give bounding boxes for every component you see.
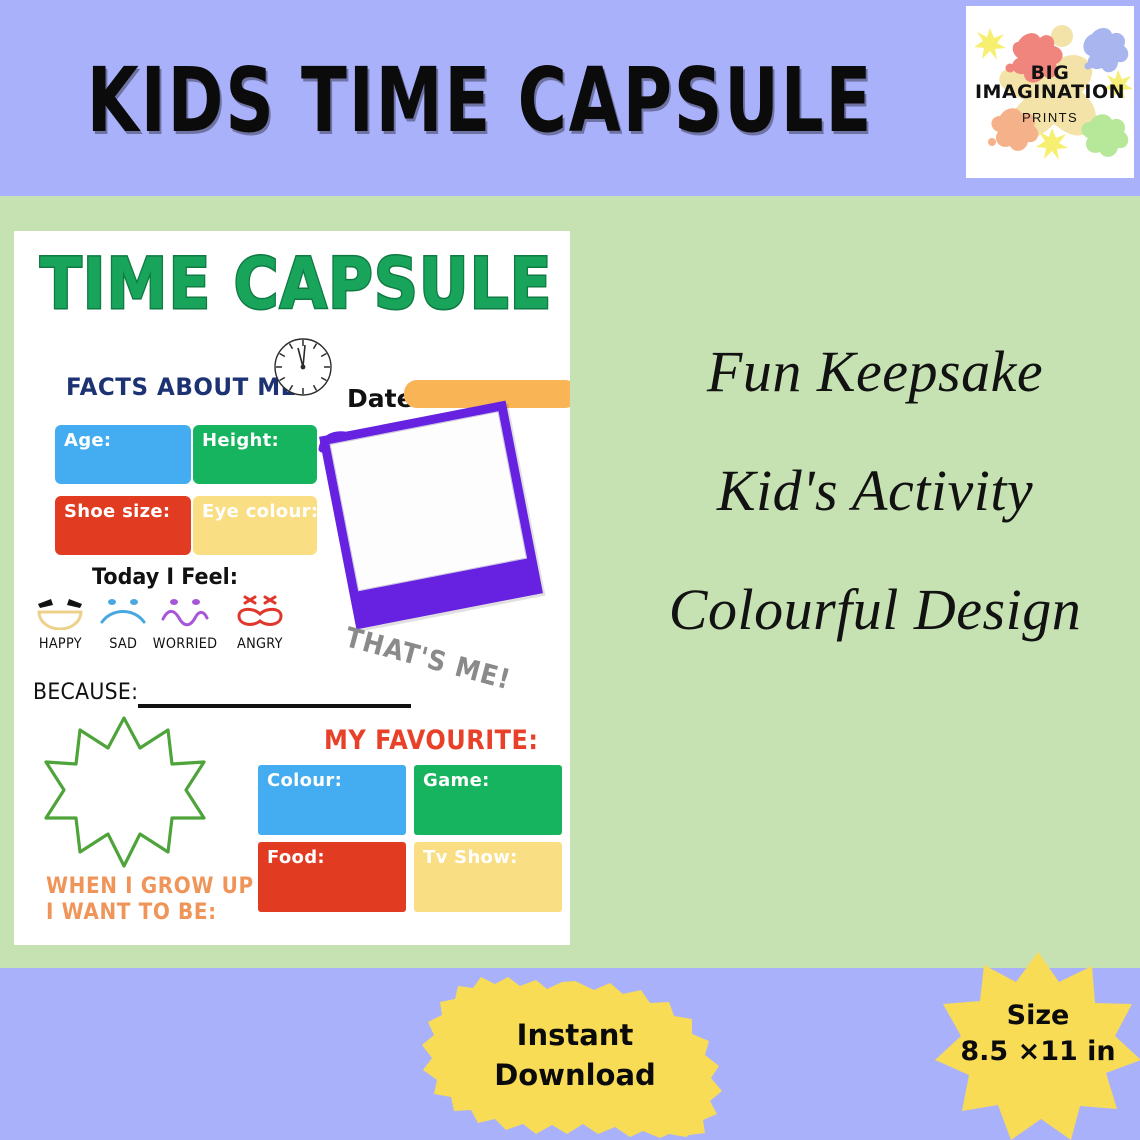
grow-up-line-1: WHEN I GROW UP <box>46 873 254 899</box>
logo-line-3: PRINTS <box>966 110 1134 125</box>
worksheet-title: TIME CAPSULE <box>40 243 552 326</box>
favourite-box-colour-label: Colour: <box>267 770 342 791</box>
feature-item-3: Colourful Design <box>610 578 1140 643</box>
facts-about-me-label: FACTS ABOUT ME: <box>66 374 307 402</box>
feature-item-2: Kid's Activity <box>610 459 1140 524</box>
today-i-feel-label: Today I Feel: <box>92 565 238 590</box>
because-write-line[interactable] <box>138 704 411 708</box>
angry-face-icon <box>229 594 291 630</box>
because-label: BECAUSE: <box>33 680 138 705</box>
logo-line-2: IMAGINATION <box>966 83 1134 102</box>
emotion-option-angry[interactable]: ANGRY <box>225 594 295 653</box>
emotion-option-worried[interactable]: WORRIED <box>150 594 220 653</box>
instant-download-text: Instant Download <box>420 1015 730 1095</box>
worried-face-icon <box>154 594 216 630</box>
fact-box-eye-colour-label: Eye colour: <box>202 501 318 522</box>
fact-box-age[interactable]: Age: <box>55 425 191 484</box>
size-badge-text: Size 8.5 ×11 in <box>935 998 1140 1069</box>
emotion-option-sad[interactable]: SAD <box>88 594 158 653</box>
favourite-box-colour[interactable]: Colour: <box>258 765 406 835</box>
favourite-box-game[interactable]: Game: <box>414 765 562 835</box>
emotion-label-happy: HAPPY <box>38 636 81 652</box>
favourite-box-game-label: Game: <box>423 770 490 791</box>
favourite-box-food-label: Food: <box>267 847 325 868</box>
favourite-box-tv-show[interactable]: Tv Show: <box>414 842 562 912</box>
clock-icon <box>272 336 334 398</box>
instant-download-line-1: Instant <box>420 1015 730 1055</box>
grow-up-line-2: I WANT TO BE: <box>46 899 254 925</box>
emotion-label-worried: WORRIED <box>153 636 218 652</box>
fact-box-shoe-size-label: Shoe size: <box>64 501 170 522</box>
size-badge-line-1: Size <box>935 998 1140 1034</box>
emotion-label-angry: ANGRY <box>237 636 283 652</box>
fact-box-shoe-size[interactable]: Shoe size: <box>55 496 191 555</box>
logo-text-block: BIG IMAGINATION PRINTS <box>966 64 1134 125</box>
fact-box-age-label: Age: <box>64 430 111 451</box>
emotion-option-happy[interactable]: HAPPY <box>25 594 95 653</box>
fact-box-eye-colour[interactable]: Eye colour: <box>193 496 317 555</box>
when-i-grow-up-label: WHEN I GROW UP I WANT TO BE: <box>46 873 254 925</box>
brand-logo-card: BIG IMAGINATION PRINTS <box>966 6 1134 178</box>
fact-box-height-label: Height: <box>202 430 279 451</box>
happy-face-icon <box>29 594 91 630</box>
instant-download-line-2: Download <box>420 1055 730 1095</box>
size-badge[interactable]: Size 8.5 ×11 in <box>935 952 1140 1140</box>
worksheet-preview[interactable]: TIME CAPSULE FACTS ABOUT ME: Date: Age: … <box>14 231 570 945</box>
feature-item-1: Fun Keepsake <box>610 340 1140 405</box>
favourite-box-food[interactable]: Food: <box>258 842 406 912</box>
photo-placeholder[interactable] <box>330 411 527 591</box>
instant-download-badge[interactable]: Instant Download <box>420 977 730 1140</box>
sad-face-icon <box>92 594 154 630</box>
fact-box-height[interactable]: Height: <box>193 425 317 484</box>
favourite-box-tv-show-label: Tv Show: <box>423 847 518 868</box>
emotion-label-sad: SAD <box>109 636 137 652</box>
my-favourite-label: MY FAVOURITE: <box>324 725 539 756</box>
page-title: KIDS TIME CAPSULE <box>19 48 941 153</box>
starburst-outline[interactable] <box>40 714 208 876</box>
size-badge-line-2: 8.5 ×11 in <box>935 1034 1140 1070</box>
thats-me-caption: THAT'S ME! <box>342 621 515 696</box>
photo-frame[interactable] <box>319 401 543 630</box>
feature-list: Fun Keepsake Kid's Activity Colourful De… <box>610 340 1140 643</box>
